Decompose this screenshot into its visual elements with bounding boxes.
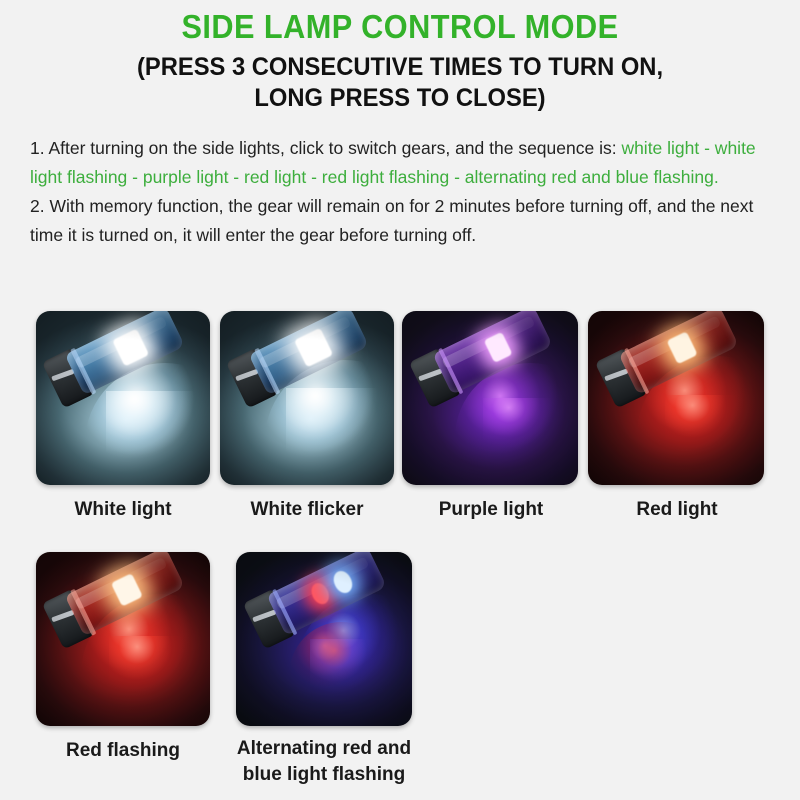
photo-purple-light (402, 311, 578, 485)
gallery-card-red-flashing: Red flashing (36, 552, 210, 726)
gallery-card-alternating-red-blue: Alternating red and blue light flashing (236, 552, 412, 726)
photo-white-light (36, 311, 210, 485)
subtitle-line-1: (PRESS 3 CONSECUTIVE TIMES TO TURN ON, (20, 52, 780, 83)
caption-alternating-red-blue: Alternating red and blue light flashing (224, 736, 424, 788)
photo-alternating-red-blue (236, 552, 412, 726)
page-title: SIDE LAMP CONTROL MODE (28, 8, 772, 46)
gallery-card-white-light: White light (36, 311, 210, 485)
photo-white-flicker (220, 311, 394, 485)
vignette (220, 311, 394, 485)
instruction-item-2: 2. With memory function, the gear will r… (30, 192, 772, 250)
instruction-1-prefix: 1. After turning on the side lights, cli… (30, 138, 621, 158)
vignette (36, 552, 210, 726)
photo-red-flashing (36, 552, 210, 726)
caption-red-flashing: Red flashing (28, 738, 218, 764)
caption-white-flicker: White flicker (212, 497, 402, 523)
gallery-card-purple-light: Purple light (402, 311, 578, 485)
gallery-card-white-flicker: White flicker (220, 311, 394, 485)
vignette (236, 552, 412, 726)
instruction-item-1: 1. After turning on the side lights, cli… (30, 134, 772, 192)
caption-red-light: Red light (582, 497, 772, 523)
page-subtitle: (PRESS 3 CONSECUTIVE TIMES TO TURN ON, L… (20, 52, 780, 114)
product-infographic: SIDE LAMP CONTROL MODE (PRESS 3 CONSECUT… (0, 0, 800, 800)
vignette (588, 311, 764, 485)
caption-white-light: White light (28, 497, 218, 523)
vignette (36, 311, 210, 485)
photo-red-light (588, 311, 764, 485)
subtitle-line-2: LONG PRESS TO CLOSE) (20, 83, 780, 114)
vignette (402, 311, 578, 485)
instructions-block: 1. After turning on the side lights, cli… (30, 134, 772, 250)
caption-purple-light: Purple light (396, 497, 586, 523)
gallery-card-red-light: Red light (588, 311, 764, 485)
